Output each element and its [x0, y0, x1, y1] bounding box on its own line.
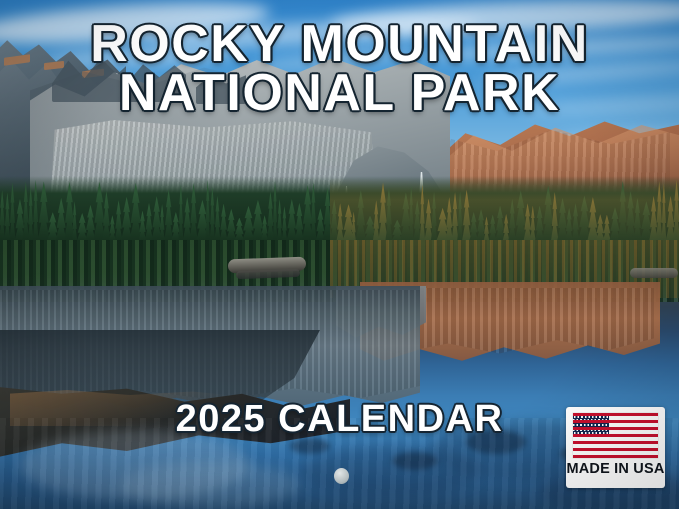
flag-stripe: [573, 420, 658, 423]
conifer-tree: [189, 183, 198, 242]
conifer-tree: [22, 181, 29, 242]
conifer-tree: [310, 182, 317, 242]
flag-stripe: [573, 455, 658, 458]
conifer-tree: [277, 199, 283, 242]
conifer-tree: [9, 182, 16, 242]
shoreline-log-right: [630, 268, 678, 278]
conifer-tree: [129, 183, 142, 242]
forest-warm-light: [330, 178, 679, 242]
flag-stripe: [573, 427, 658, 430]
conifer-tree: [32, 180, 38, 242]
conifer-tree: [214, 196, 221, 242]
conifer-tree: [219, 204, 228, 242]
flag-stripe: [573, 413, 658, 416]
flag-stripe: [573, 441, 658, 444]
made-in-usa-badge: MADE IN USA: [566, 407, 665, 488]
flag-stripe: [573, 434, 658, 437]
conifer-tree: [37, 181, 50, 242]
ridge-crag: [128, 62, 186, 102]
white-pebble: [334, 468, 349, 484]
conifer-tree: [209, 187, 215, 242]
flag-star-row: [573, 424, 609, 426]
flag-stripe: [573, 448, 658, 451]
calendar-cover: ROCKY MOUNTAIN NATIONAL PARK 2025 CALEND…: [0, 0, 679, 509]
conifer-tree: [0, 190, 6, 242]
us-flag-icon: [573, 413, 658, 458]
made-in-usa-label: MADE IN USA: [566, 461, 665, 477]
conifer-tree: [114, 200, 123, 242]
conifer-tree: [205, 180, 210, 242]
conifer-tree: [28, 187, 34, 242]
conifer-tree: [138, 211, 146, 242]
conifer-tree: [281, 206, 287, 242]
conifer-tree: [4, 192, 11, 242]
conifer-tree: [164, 189, 174, 242]
conifer-tree: [144, 203, 153, 242]
conifer-tree: [178, 185, 184, 242]
conifer-tree: [272, 181, 277, 242]
conifer-tree: [226, 209, 237, 242]
